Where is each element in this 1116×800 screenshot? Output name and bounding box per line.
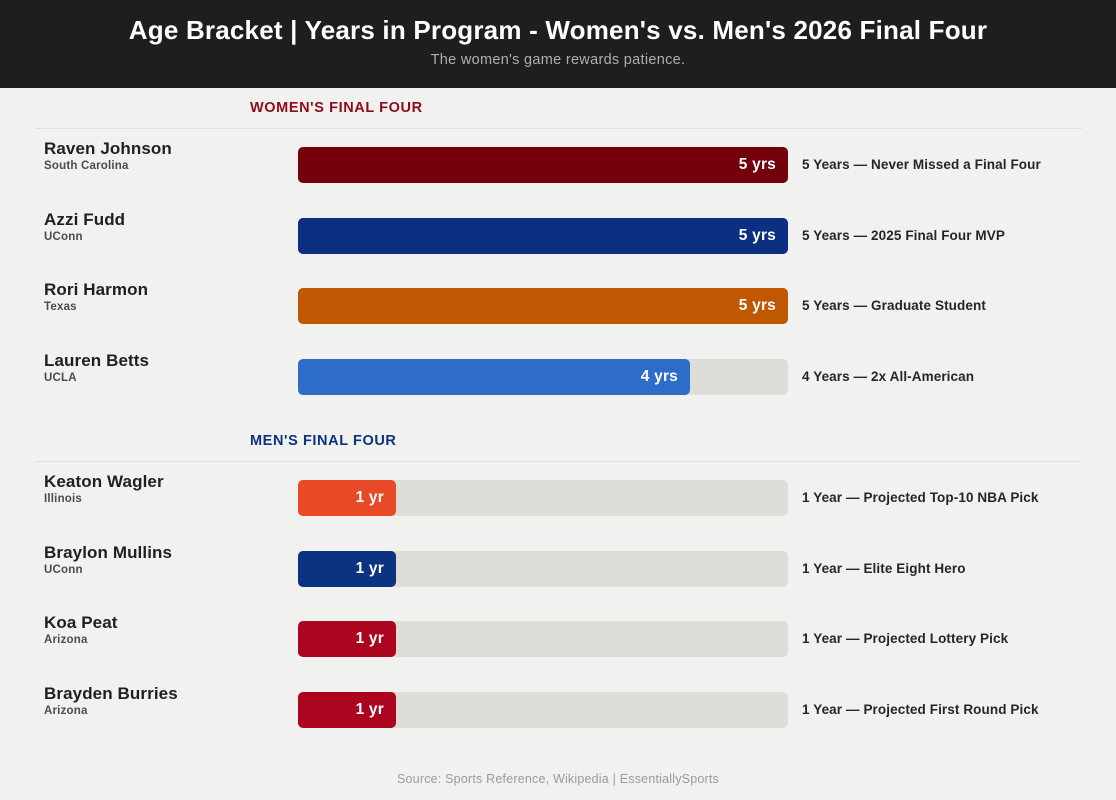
player-name: Raven Johnson <box>44 139 284 159</box>
page-subtitle: The women's game rewards patience. <box>0 50 1116 70</box>
source-footer: Source: Sports Reference, Wikipedia | Es… <box>0 772 1116 786</box>
player-name: Keaton Wagler <box>44 472 284 492</box>
bar-track: 4 yrs <box>298 359 788 395</box>
bar-row: Raven JohnsonSouth Carolina5 yrs5 Years … <box>0 139 1116 191</box>
player-label: Brayden BurriesArizona <box>44 684 284 718</box>
bar-fill[interactable]: 1 yr <box>298 551 396 587</box>
bar-value-label: 1 yr <box>356 551 384 587</box>
player-label: Azzi FuddUConn <box>44 210 284 244</box>
section-divider <box>35 461 1082 462</box>
bar-fill[interactable]: 5 yrs <box>298 147 788 183</box>
player-team: Arizona <box>44 704 284 718</box>
bar-value-label: 1 yr <box>356 621 384 657</box>
player-team: UCLA <box>44 371 284 385</box>
bar-annotation: 5 Years — 2025 Final Four MVP <box>802 218 1005 254</box>
bar-annotation: 4 Years — 2x All-American <box>802 359 974 395</box>
player-team: UConn <box>44 563 284 577</box>
bar-row: Keaton WaglerIllinois1 yr1 Year — Projec… <box>0 472 1116 524</box>
bar-value-label: 5 yrs <box>739 147 776 183</box>
bar-fill[interactable]: 1 yr <box>298 480 396 516</box>
player-label: Raven JohnsonSouth Carolina <box>44 139 284 173</box>
bar-value-label: 1 yr <box>356 692 384 728</box>
bar-annotation: 1 Year — Elite Eight Hero <box>802 551 966 587</box>
section-divider <box>35 128 1082 129</box>
bar-annotation: 5 Years — Graduate Student <box>802 288 986 324</box>
bar-track: 1 yr <box>298 480 788 516</box>
bar-value-label: 5 yrs <box>739 218 776 254</box>
bar-track: 5 yrs <box>298 288 788 324</box>
chart-body: WOMEN'S FINAL FOURRaven JohnsonSouth Car… <box>0 88 1116 800</box>
player-team: Illinois <box>44 492 284 506</box>
bar-annotation: 5 Years — Never Missed a Final Four <box>802 147 1041 183</box>
bar-value-label: 4 yrs <box>641 359 678 395</box>
player-name: Brayden Burries <box>44 684 284 704</box>
bar-track: 5 yrs <box>298 218 788 254</box>
player-name: Braylon Mullins <box>44 543 284 563</box>
bar-fill[interactable]: 5 yrs <box>298 288 788 324</box>
bar-value-label: 1 yr <box>356 480 384 516</box>
bar-track: 5 yrs <box>298 147 788 183</box>
chart-header: Age Bracket | Years in Program - Women's… <box>0 0 1116 88</box>
bar-track: 1 yr <box>298 692 788 728</box>
section-label: MEN'S FINAL FOUR <box>250 433 397 449</box>
section-label: WOMEN'S FINAL FOUR <box>250 100 423 116</box>
player-team: South Carolina <box>44 159 284 173</box>
player-label: Keaton WaglerIllinois <box>44 472 284 506</box>
player-name: Lauren Betts <box>44 351 284 371</box>
bar-track: 1 yr <box>298 621 788 657</box>
player-label: Braylon MullinsUConn <box>44 543 284 577</box>
bar-row: Rori HarmonTexas5 yrs5 Years — Graduate … <box>0 280 1116 332</box>
bar-row: Braylon MullinsUConn1 yr1 Year — Elite E… <box>0 543 1116 595</box>
page-title: Age Bracket | Years in Program - Women's… <box>0 13 1116 47</box>
bar-fill[interactable]: 1 yr <box>298 621 396 657</box>
bar-row: Lauren BettsUCLA4 yrs4 Years — 2x All-Am… <box>0 351 1116 403</box>
bar-fill[interactable]: 4 yrs <box>298 359 690 395</box>
bar-row: Koa PeatArizona1 yr1 Year — Projected Lo… <box>0 613 1116 665</box>
bar-row: Azzi FuddUConn5 yrs5 Years — 2025 Final … <box>0 210 1116 262</box>
player-label: Rori HarmonTexas <box>44 280 284 314</box>
player-label: Lauren BettsUCLA <box>44 351 284 385</box>
bar-annotation: 1 Year — Projected Lottery Pick <box>802 621 1008 657</box>
bar-annotation: 1 Year — Projected Top-10 NBA Pick <box>802 480 1039 516</box>
bar-fill[interactable]: 5 yrs <box>298 218 788 254</box>
player-name: Azzi Fudd <box>44 210 284 230</box>
bar-row: Brayden BurriesArizona1 yr1 Year — Proje… <box>0 684 1116 736</box>
player-team: Texas <box>44 300 284 314</box>
player-name: Rori Harmon <box>44 280 284 300</box>
bar-value-label: 5 yrs <box>739 288 776 324</box>
player-label: Koa PeatArizona <box>44 613 284 647</box>
player-team: Arizona <box>44 633 284 647</box>
bar-fill[interactable]: 1 yr <box>298 692 396 728</box>
player-name: Koa Peat <box>44 613 284 633</box>
bar-track: 1 yr <box>298 551 788 587</box>
player-team: UConn <box>44 230 284 244</box>
chart-page: Age Bracket | Years in Program - Women's… <box>0 0 1116 800</box>
bar-annotation: 1 Year — Projected First Round Pick <box>802 692 1039 728</box>
